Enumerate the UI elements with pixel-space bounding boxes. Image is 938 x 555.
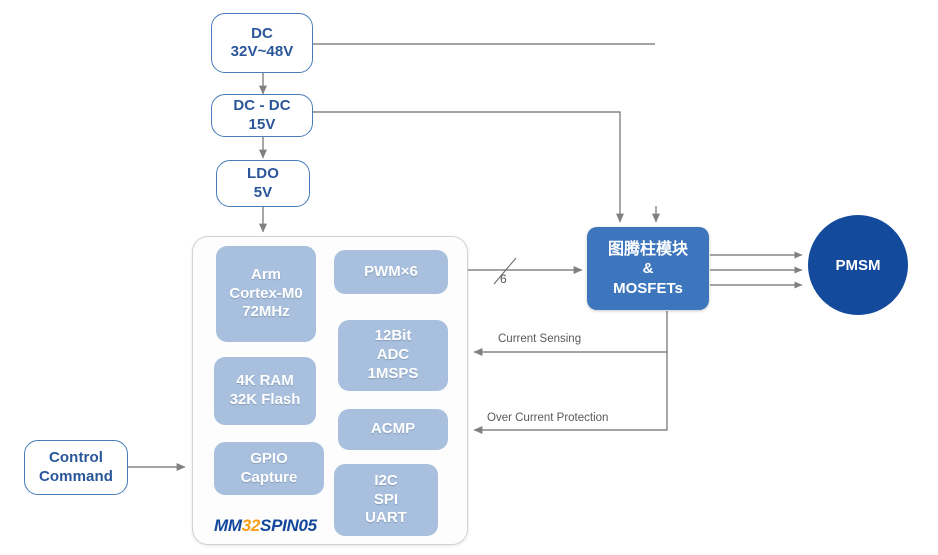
mcu-block-gpio-capture: GPIO Capture	[214, 442, 324, 495]
mcu-block-acmp: ACMP	[338, 409, 448, 450]
dc-source-line2: 32V~48V	[231, 43, 294, 61]
ldo-line2: 5V	[254, 184, 273, 202]
block-control-command: Control Command	[24, 440, 128, 495]
driver-line3: MOSFETs	[613, 279, 683, 299]
cpu-core-line2: Cortex-M0	[229, 285, 302, 304]
logo-part-32: 32	[242, 516, 260, 535]
adc-line1: 12Bit	[375, 327, 412, 346]
wire-dcdc-rail	[312, 112, 620, 222]
cpu-core-line3: 72MHz	[242, 303, 290, 322]
dc-source-line1: DC	[251, 25, 273, 43]
comm-line1: I2C	[374, 472, 397, 491]
dc-dc-line2: 15V	[249, 116, 276, 134]
over-current-protection-label: Over Current Protection	[487, 412, 608, 424]
mcu-part-number-logo: MM32SPIN05	[214, 516, 317, 536]
adc-line3: 1MSPS	[368, 365, 419, 384]
gpio-line1: GPIO	[250, 450, 288, 469]
mcu-block-cpu-core: Arm Cortex-M0 72MHz	[216, 246, 316, 342]
ldo-line1: LDO	[247, 165, 279, 183]
current-sensing-label: Current Sensing	[498, 333, 581, 345]
driver-line2: &	[643, 259, 654, 279]
pwm-label: PWM×6	[364, 263, 418, 282]
mcu-block-pwm: PWM×6	[334, 250, 448, 294]
acmp-label: ACMP	[371, 420, 415, 439]
comm-line2: SPI	[374, 491, 398, 510]
mcu-block-adc: 12Bit ADC 1MSPS	[338, 320, 448, 391]
mcu-block-comm-interfaces: I2C SPI UART	[334, 464, 438, 536]
pwm-bus-width-label: 6	[500, 272, 507, 286]
wire-layer	[0, 0, 938, 555]
block-dc-source: DC 32V~48V	[211, 13, 313, 73]
dc-dc-line1: DC - DC	[233, 97, 290, 115]
memory-line2: 32K Flash	[230, 391, 301, 410]
block-totem-pole-driver: 图腾柱模块 & MOSFETs	[587, 227, 709, 310]
gpio-line2: Capture	[241, 469, 298, 488]
wire-current-sensing	[474, 311, 667, 352]
block-dc-dc-converter: DC - DC 15V	[211, 94, 313, 137]
adc-line2: ADC	[377, 346, 410, 365]
control-command-line2: Command	[39, 468, 113, 486]
pmsm-label: PMSM	[836, 257, 881, 274]
block-ldo-regulator: LDO 5V	[216, 160, 310, 207]
cpu-core-line1: Arm	[251, 266, 281, 285]
driver-line1: 图腾柱模块	[608, 239, 688, 260]
comm-line3: UART	[365, 509, 407, 528]
logo-part-mm: MM	[214, 516, 242, 535]
logo-part-spin05: SPIN05	[260, 516, 317, 535]
block-diagram-canvas: DC 32V~48V DC - DC 15V LDO 5V Control Co…	[0, 0, 938, 555]
block-pmsm-motor: PMSM	[808, 215, 908, 315]
control-command-line1: Control	[49, 449, 103, 467]
mcu-block-memory: 4K RAM 32K Flash	[214, 357, 316, 425]
memory-line1: 4K RAM	[236, 372, 294, 391]
